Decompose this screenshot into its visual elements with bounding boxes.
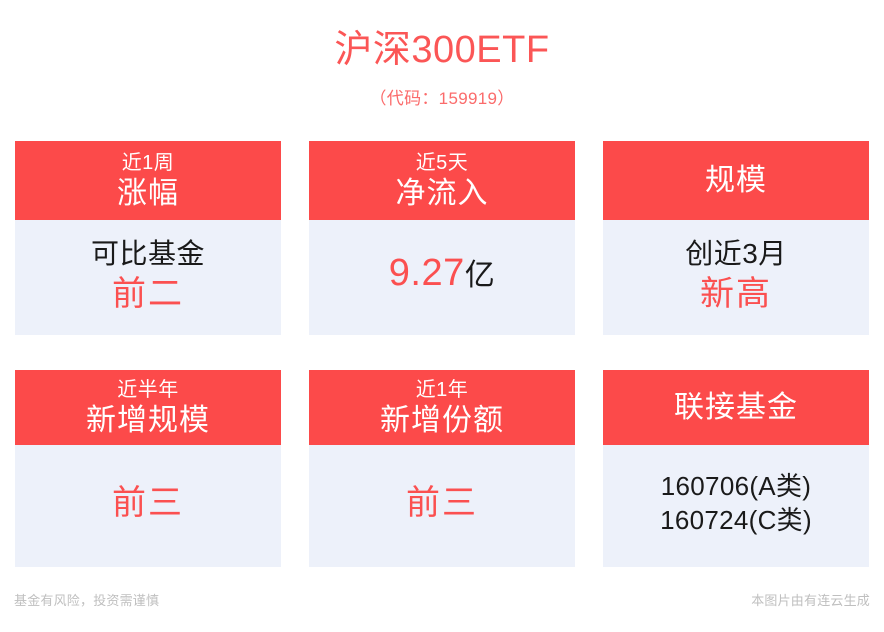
metric-card-feeder-fund: 联接基金 160706(A类) 160724(C类)	[603, 370, 869, 567]
feeder-fund-code-c: 160724(C类)	[660, 503, 812, 537]
card-body-subtext: 可比基金	[91, 235, 205, 273]
poster-page: 沪深300ETF （代码：159919） 近1周 涨幅 可比基金 前二 近5天 …	[0, 0, 884, 632]
poster-footer: 基金有风险，投资需谨慎 本图片由有连云生成	[0, 592, 884, 632]
card-body: 前三	[309, 445, 575, 567]
risk-disclaimer: 基金有风险，投资需谨慎	[14, 592, 159, 610]
image-credit: 本图片由有连云生成	[751, 592, 870, 610]
card-body-unit: 亿	[465, 254, 496, 298]
card-header-title: 联接基金	[674, 390, 798, 426]
card-header-title: 规模	[705, 163, 767, 199]
metric-card-one-year-share-growth: 近1年 新增份额 前三	[309, 370, 575, 567]
card-header: 规模	[603, 141, 869, 220]
card-header: 近5天 净流入	[309, 141, 575, 220]
metric-card-grid: 近1周 涨幅 可比基金 前二 近5天 净流入 9.27 亿	[15, 141, 869, 567]
card-body: 创近3月 新高	[603, 220, 869, 335]
poster-header: 沪深300ETF （代码：159919）	[0, 0, 884, 110]
fund-code-subtitle: （代码：159919）	[0, 88, 884, 110]
card-header-period: 近半年	[117, 377, 179, 403]
card-body: 前三	[15, 445, 281, 567]
card-body-value-group: 9.27 亿	[389, 251, 495, 298]
card-header-period: 近1周	[122, 150, 175, 176]
feeder-fund-code-a: 160706(A类)	[661, 469, 811, 503]
card-header-title: 新增规模	[86, 403, 210, 439]
metric-card-net-inflow: 近5天 净流入 9.27 亿	[309, 141, 575, 335]
card-header: 近1年 新增份额	[309, 370, 575, 445]
metric-card-scale: 规模 创近3月 新高	[603, 141, 869, 335]
card-body-subtext: 创近3月	[685, 235, 787, 273]
card-body-value: 前二	[112, 273, 184, 315]
card-body: 9.27 亿	[309, 220, 575, 335]
card-header-period: 近1年	[416, 377, 469, 403]
card-body-value: 前三	[406, 482, 478, 524]
card-body: 160706(A类) 160724(C类)	[603, 445, 869, 567]
card-header: 近1周 涨幅	[15, 141, 281, 220]
card-body: 可比基金 前二	[15, 220, 281, 335]
card-header-title: 净流入	[396, 176, 489, 212]
card-body-number: 9.27	[389, 251, 465, 295]
metric-card-half-year-scale-growth: 近半年 新增规模 前三	[15, 370, 281, 567]
card-header-title: 涨幅	[117, 176, 179, 212]
card-body-value: 新高	[700, 273, 772, 315]
card-body-value: 前三	[112, 482, 184, 524]
metric-card-weekly-gain: 近1周 涨幅 可比基金 前二	[15, 141, 281, 335]
card-header: 近半年 新增规模	[15, 370, 281, 445]
card-header: 联接基金	[603, 370, 869, 445]
card-header-period: 近5天	[416, 150, 469, 176]
page-title: 沪深300ETF	[0, 26, 884, 74]
card-header-title: 新增份额	[380, 403, 504, 439]
